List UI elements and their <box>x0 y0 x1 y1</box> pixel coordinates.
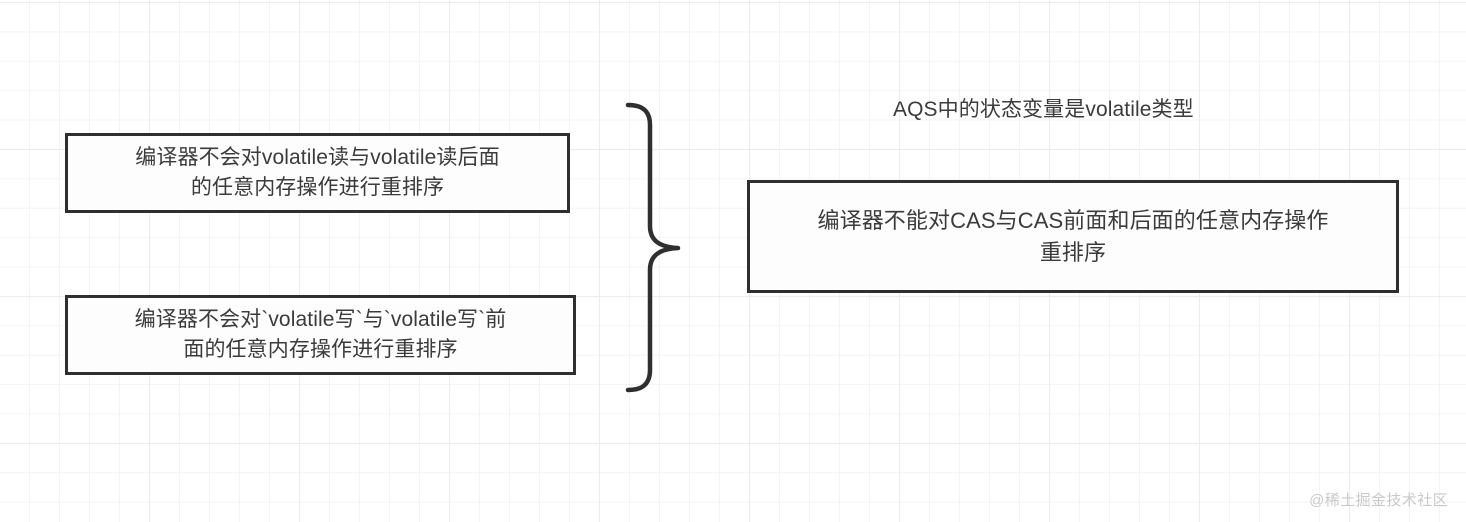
aqs-state-title: AQS中的状态变量是volatile类型 <box>893 93 1194 123</box>
node-volatile-read-label: 编译器不会对volatile读与volatile读后面 的任意内存操作进行重排序 <box>125 143 509 203</box>
diagram-canvas: AQS中的状态变量是volatile类型 编译器不会对volatile读与vol… <box>0 0 1466 522</box>
watermark-label: @稀土掘金技术社区 <box>1309 489 1448 510</box>
node-volatile-write-label: 编译器不会对`volatile写`与`volatile写`前 面的任意内存操作进… <box>125 305 517 365</box>
node-volatile-read: 编译器不会对volatile读与volatile读后面 的任意内存操作进行重排序 <box>65 133 570 213</box>
node-cas-reorder: 编译器不能对CAS与CAS前面和后面的任意内存操作 重排序 <box>747 180 1399 293</box>
node-cas-reorder-label: 编译器不能对CAS与CAS前面和后面的任意内存操作 重排序 <box>808 205 1339 267</box>
node-volatile-write: 编译器不会对`volatile写`与`volatile写`前 面的任意内存操作进… <box>65 295 576 375</box>
curly-brace-icon <box>618 95 688 400</box>
